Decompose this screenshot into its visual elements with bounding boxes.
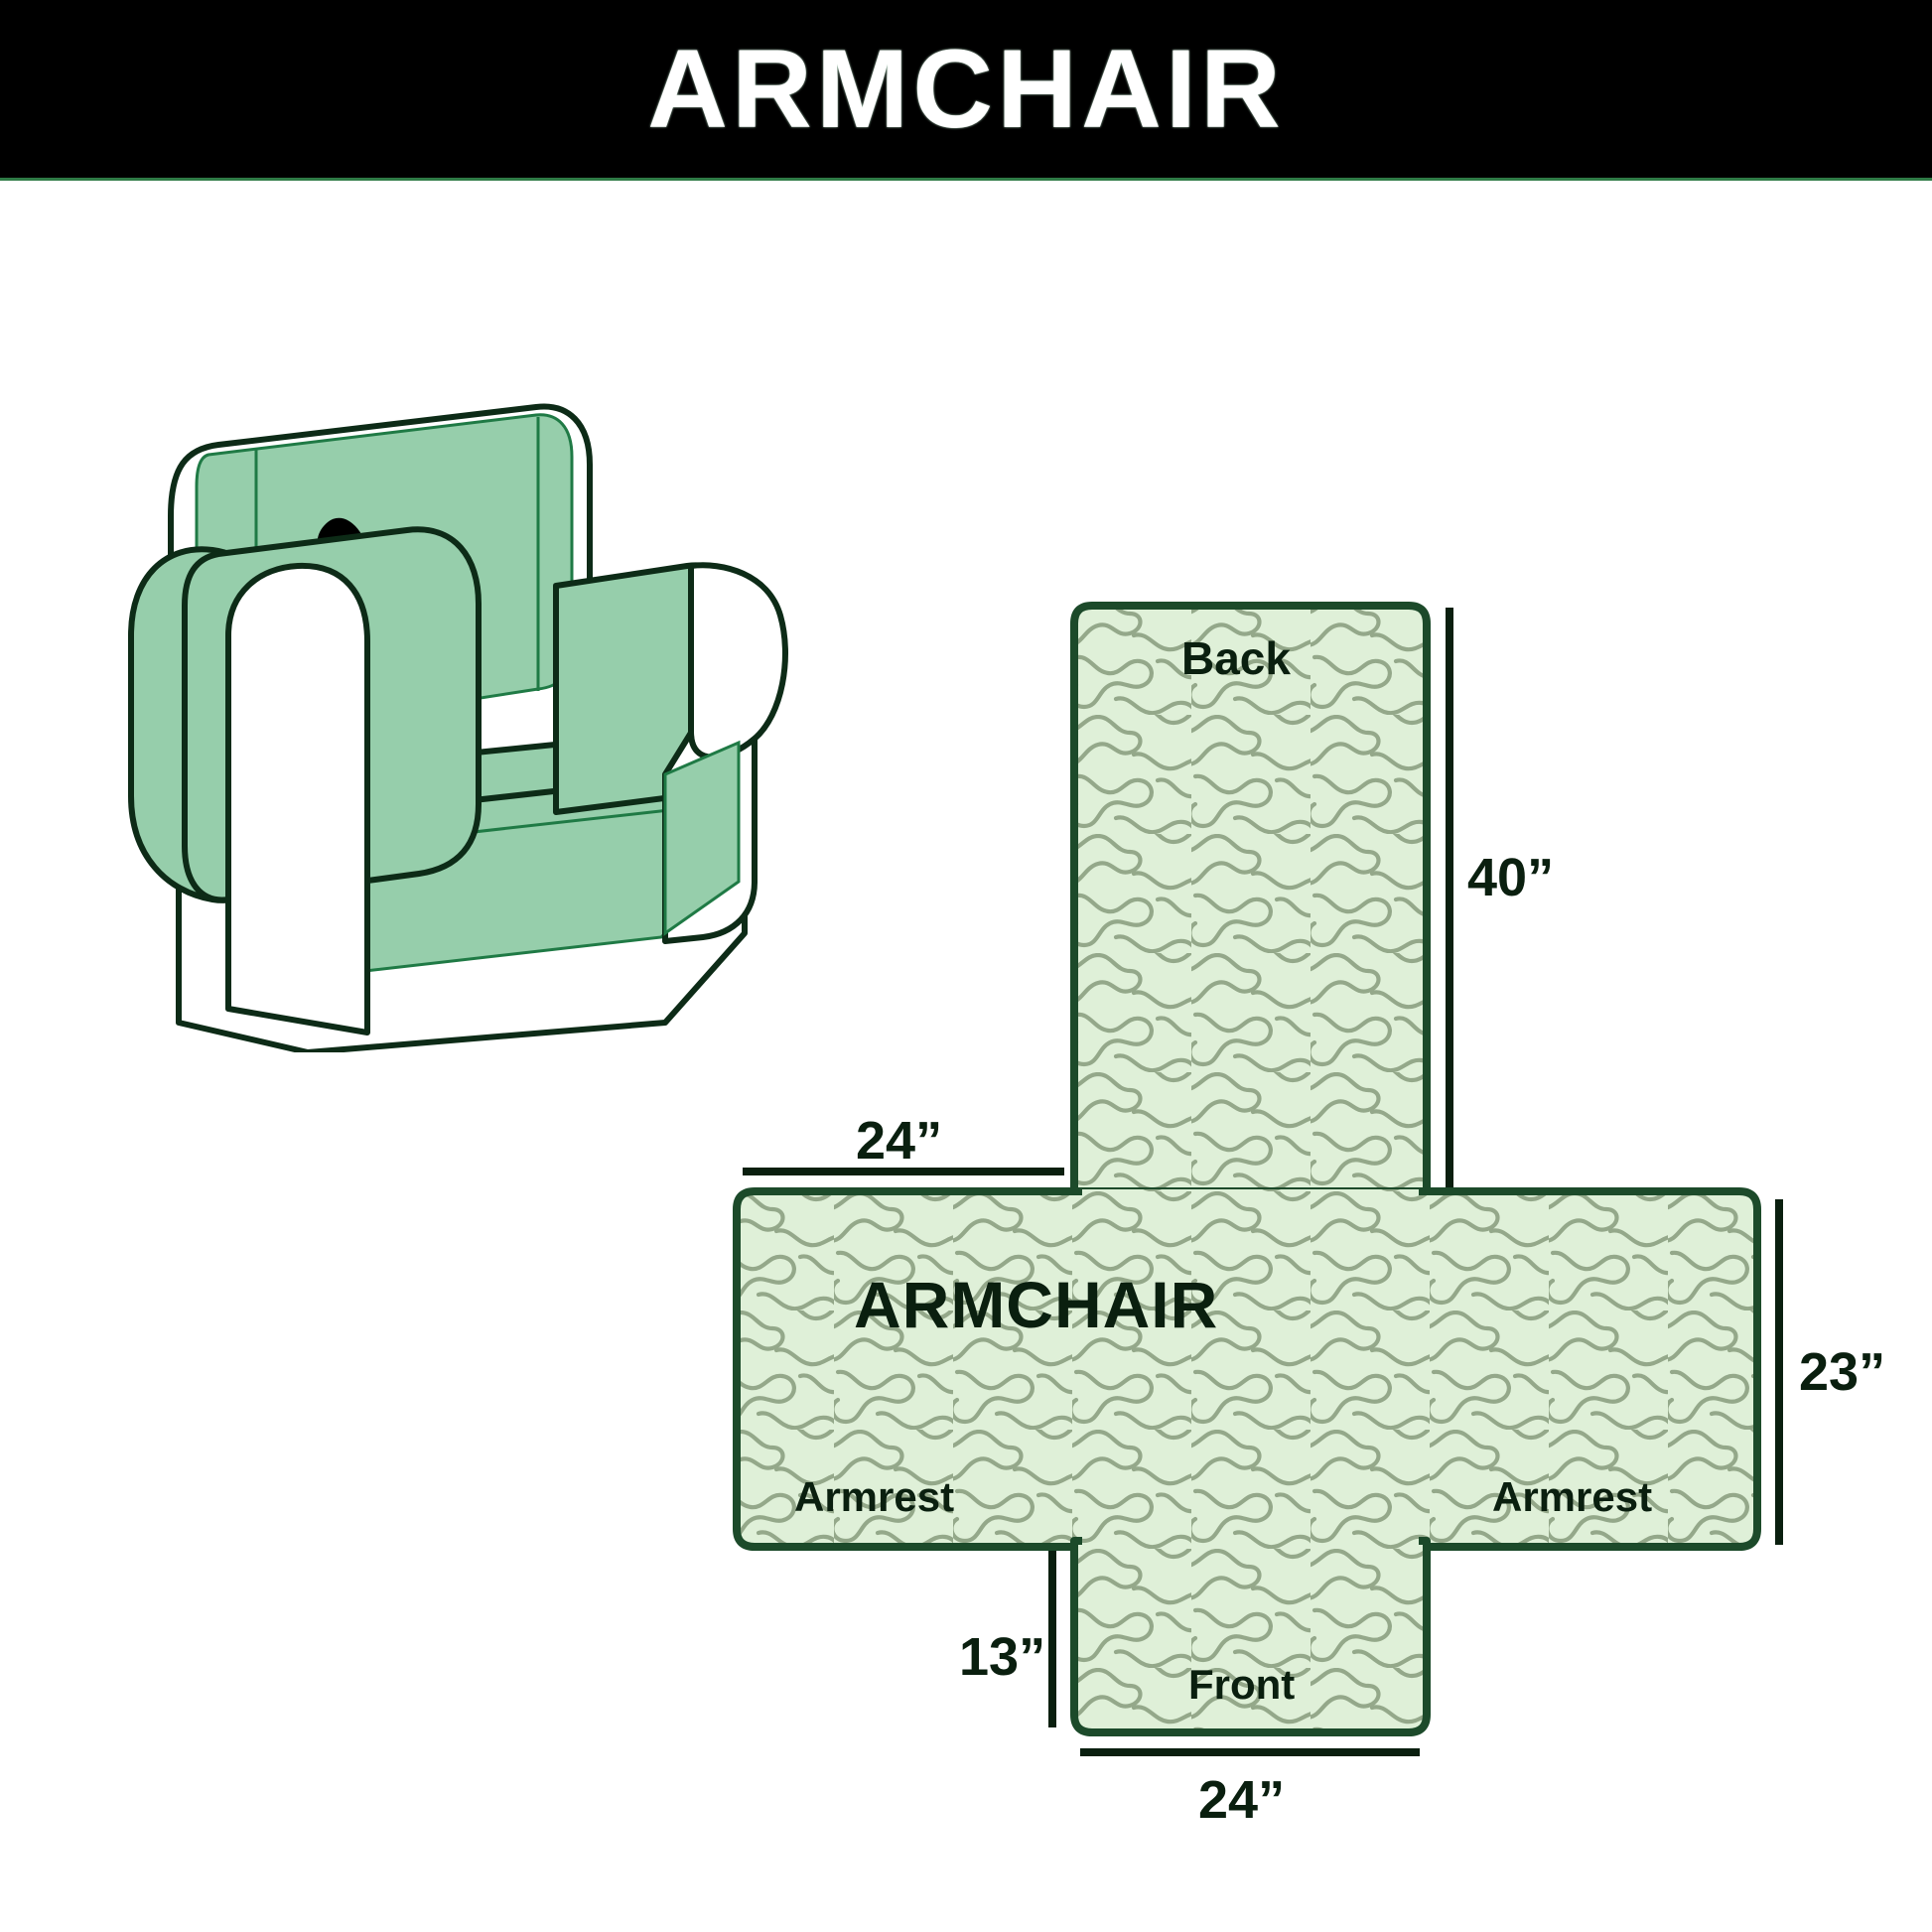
dimension-label-front-width: 24” bbox=[1198, 1773, 1285, 1827]
panel-label-armchair: ARMCHAIR bbox=[854, 1272, 1218, 1337]
panel-label-back: Back bbox=[1181, 635, 1291, 681]
page-title: ARMCHAIR bbox=[647, 34, 1285, 145]
dimension-label-center-height: 23” bbox=[1799, 1345, 1885, 1399]
armrest-right-white-roll bbox=[691, 565, 785, 757]
armchair-illustration bbox=[109, 338, 804, 1052]
panel-label-front: Front bbox=[1188, 1664, 1295, 1706]
dimension-label-armrest-width: 24” bbox=[856, 1114, 942, 1168]
panel-label-armrest-left: Armrest bbox=[794, 1476, 954, 1518]
seam-center-front bbox=[1082, 1537, 1419, 1549]
dimension-lines bbox=[743, 608, 1779, 1752]
header-banner: ARMCHAIR bbox=[0, 0, 1932, 181]
dimension-label-front-height: 13” bbox=[959, 1630, 1045, 1684]
panel-label-armrest-right: Armrest bbox=[1492, 1476, 1652, 1518]
seam-back-center bbox=[1082, 1189, 1419, 1201]
armrest-left-white-front bbox=[228, 566, 367, 1033]
dimension-label-back-height: 40” bbox=[1467, 851, 1554, 904]
panel-back bbox=[1074, 606, 1427, 1197]
